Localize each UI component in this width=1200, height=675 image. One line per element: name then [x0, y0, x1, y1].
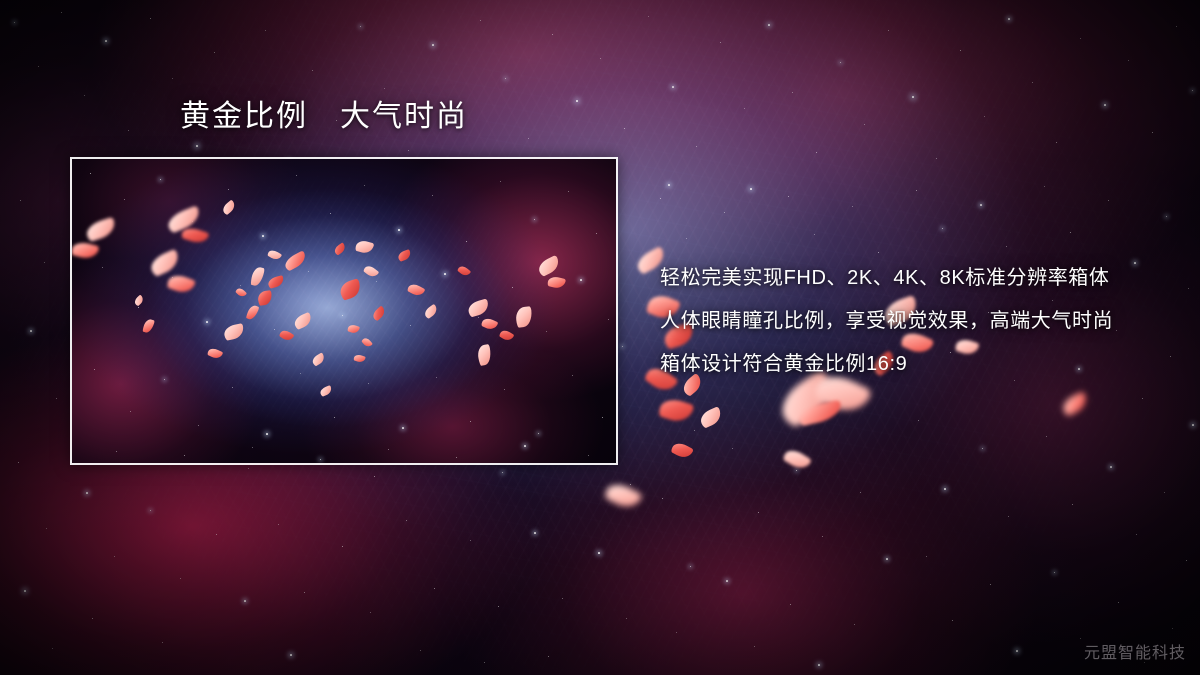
star-point — [1008, 516, 1009, 517]
star-point — [598, 552, 600, 554]
star-point — [52, 648, 53, 649]
star-point — [84, 95, 85, 96]
star-point — [1008, 18, 1010, 20]
star-point — [534, 532, 536, 534]
star-point — [552, 34, 553, 35]
star-point — [548, 656, 549, 657]
star-point — [788, 196, 789, 197]
star-point — [1080, 38, 1081, 39]
star-point — [1080, 638, 1081, 639]
star-point — [878, 252, 879, 253]
presentation-slide: 黄金比例 大气时尚 轻松完美实现FHD、2K、4K、8K标准分辨率箱体 人体眼睛… — [0, 0, 1200, 675]
star-point — [980, 204, 982, 206]
star-point — [38, 66, 39, 67]
star-point — [926, 556, 927, 557]
star-point — [792, 92, 793, 93]
star-point — [816, 152, 817, 153]
star-point — [278, 524, 279, 525]
star-point — [470, 540, 471, 541]
flower-petal — [658, 396, 695, 426]
star-point — [648, 16, 649, 17]
star-point — [694, 430, 695, 431]
star-point — [1032, 82, 1033, 83]
star-point — [30, 330, 32, 332]
star-point — [744, 108, 745, 109]
star-point — [484, 662, 485, 663]
star-point — [1072, 504, 1073, 505]
star-point — [576, 100, 578, 102]
star-point — [360, 26, 361, 27]
star-point — [626, 618, 627, 619]
star-point — [502, 472, 503, 473]
star-point — [1054, 572, 1055, 573]
star-point — [888, 30, 889, 31]
star-point — [1070, 232, 1071, 233]
star-point — [432, 44, 434, 46]
star-point — [150, 18, 151, 19]
star-point — [105, 40, 107, 42]
star-point — [162, 642, 163, 643]
star-point — [290, 654, 292, 656]
star-point — [1006, 246, 1007, 247]
star-point — [960, 50, 961, 51]
star-point — [754, 646, 755, 647]
star-point — [690, 566, 691, 567]
star-point — [172, 78, 173, 79]
star-point — [732, 448, 733, 449]
star-point — [18, 462, 19, 463]
star-point — [724, 212, 725, 213]
star-point — [128, 130, 129, 131]
star-point — [406, 520, 407, 521]
star-point — [864, 124, 865, 125]
star-point — [180, 578, 181, 579]
star-point — [1046, 436, 1047, 437]
star-point — [342, 546, 343, 547]
star-point — [498, 606, 499, 607]
star-point — [822, 536, 823, 537]
star-point — [1164, 492, 1165, 493]
flower-petal — [797, 400, 844, 427]
star-point — [1186, 560, 1187, 561]
flower-petal — [782, 446, 812, 472]
flower-petal — [1060, 391, 1090, 417]
star-point — [1192, 424, 1194, 426]
star-point — [24, 590, 26, 592]
star-point — [1128, 60, 1129, 61]
flower-petal — [603, 479, 642, 513]
star-point — [984, 116, 985, 117]
star-point — [726, 580, 728, 582]
star-point — [942, 228, 943, 229]
star-point — [936, 158, 937, 159]
star-point — [216, 534, 217, 535]
star-point — [852, 206, 853, 207]
star-point — [374, 476, 375, 477]
star-point — [720, 42, 721, 43]
star-point — [1104, 104, 1106, 106]
star-point — [265, 30, 266, 31]
star-point — [1108, 200, 1109, 201]
star-point — [768, 24, 770, 26]
star-point — [1056, 142, 1057, 143]
star-point — [20, 200, 21, 201]
star-point — [248, 468, 249, 469]
page-title: 黄金比例 大气时尚 — [180, 101, 468, 133]
star-point — [14, 22, 15, 23]
star-point — [854, 624, 855, 625]
star-point — [56, 398, 57, 399]
star-point — [624, 128, 625, 129]
star-point — [1044, 186, 1045, 187]
star-point — [672, 86, 674, 88]
star-point — [150, 510, 151, 511]
star-point — [1016, 650, 1018, 652]
star-point — [312, 70, 313, 71]
star-point — [434, 588, 435, 589]
star-point — [860, 492, 861, 493]
star-point — [408, 150, 409, 151]
star-point — [990, 584, 991, 585]
star-point — [214, 52, 215, 53]
star-point — [886, 558, 888, 560]
star-point — [918, 420, 919, 421]
star-point — [92, 618, 93, 619]
star-point — [662, 498, 663, 499]
star-point — [562, 598, 563, 599]
star-point — [44, 262, 45, 263]
star-point — [1142, 398, 1143, 399]
star-point — [676, 632, 677, 633]
star-point — [1136, 534, 1137, 535]
body-line-2: 人体眼睛瞳孔比例，享受视觉效果，高端大气时尚 — [660, 300, 1160, 343]
body-text-block: 轻松完美实现FHD、2K、4K、8K标准分辨率箱体 人体眼睛瞳孔比例，享受视觉效… — [660, 257, 1160, 386]
star-point — [840, 62, 841, 63]
star-point — [1152, 132, 1153, 133]
star-point — [420, 650, 421, 651]
star-point — [370, 612, 371, 613]
body-line-3: 箱体设计符合黄金比例16:9 — [660, 343, 1160, 386]
star-point — [1172, 628, 1173, 629]
star-point — [622, 346, 623, 347]
star-point — [750, 188, 752, 190]
star-point — [944, 488, 946, 490]
star-point — [796, 470, 797, 471]
star-point — [1110, 466, 1112, 468]
star-point — [686, 238, 687, 239]
star-point — [114, 556, 115, 557]
body-line-1: 轻松完美实现FHD、2K、4K、8K标准分辨率箱体 — [660, 257, 1160, 300]
framed-display-image — [70, 157, 618, 465]
star-point — [818, 664, 820, 666]
star-point — [1188, 288, 1189, 289]
star-point — [600, 58, 601, 59]
star-point — [528, 138, 529, 139]
watermark-text: 元盟智能科技 — [1084, 639, 1186, 663]
screen-nebula-filaments — [72, 159, 616, 463]
star-point — [61, 12, 62, 13]
star-point — [668, 184, 670, 186]
star-point — [480, 20, 481, 21]
star-point — [696, 146, 697, 147]
star-point — [630, 484, 631, 485]
star-point — [1192, 90, 1193, 91]
star-point — [384, 88, 385, 89]
star-point — [1118, 602, 1119, 603]
star-point — [982, 448, 983, 449]
star-point — [86, 492, 88, 494]
star-point — [660, 198, 661, 199]
star-point — [814, 234, 815, 235]
star-point — [304, 592, 305, 593]
star-point — [46, 528, 47, 529]
star-point — [244, 600, 246, 602]
star-point — [916, 190, 917, 191]
star-point — [912, 96, 914, 98]
flower-petal — [670, 440, 694, 461]
star-point — [952, 620, 953, 621]
star-point — [1166, 216, 1167, 217]
star-point — [1176, 26, 1177, 27]
flower-petal — [698, 406, 724, 429]
star-point — [196, 145, 198, 147]
star-point — [758, 512, 759, 513]
star-point — [1170, 356, 1171, 357]
star-point — [790, 604, 791, 605]
star-point — [505, 78, 506, 79]
